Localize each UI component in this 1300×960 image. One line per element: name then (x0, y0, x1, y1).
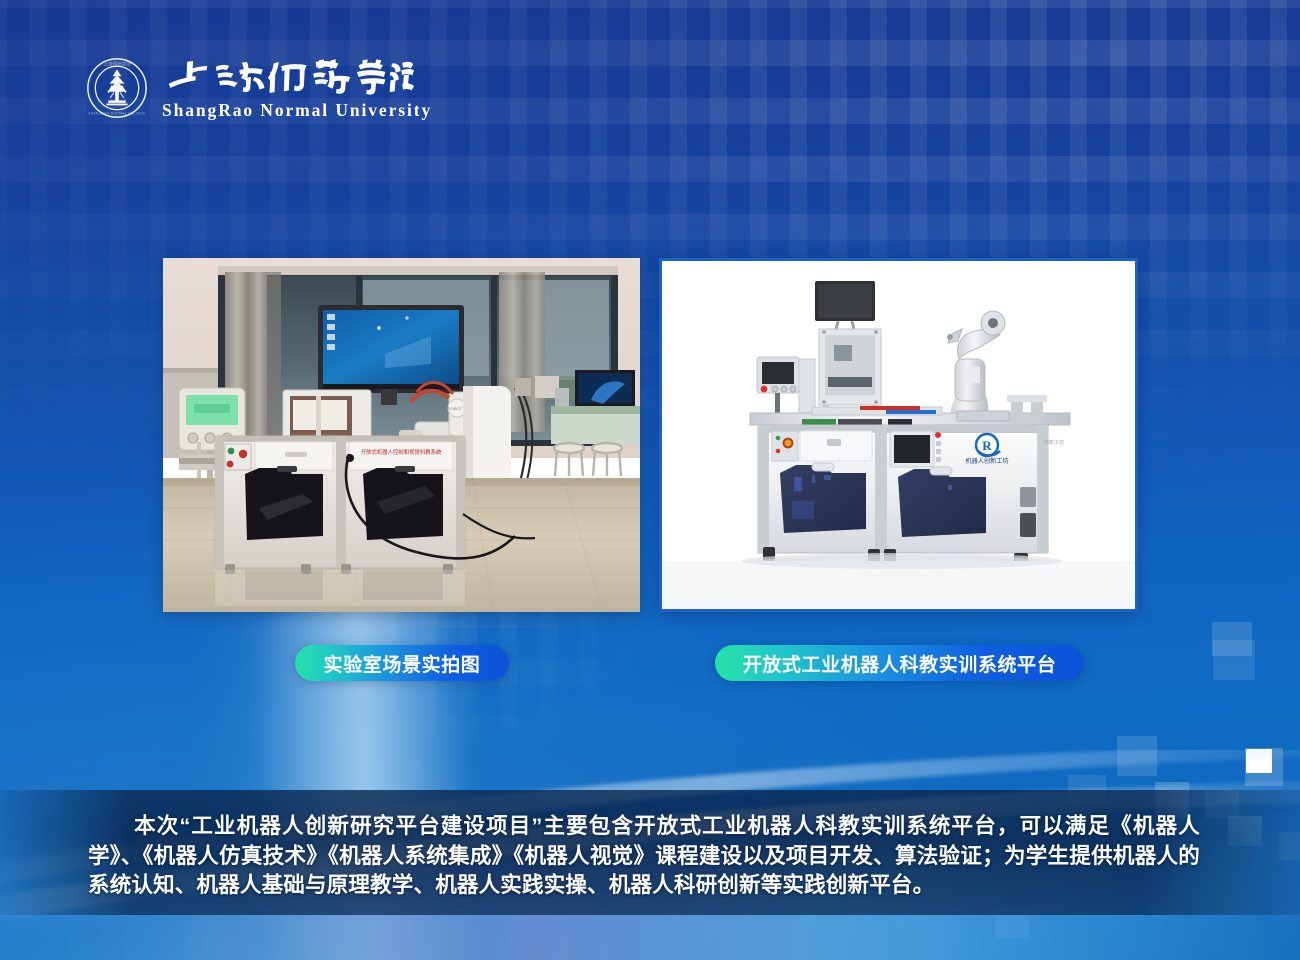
caption-pill-training-platform[interactable]: 开放式工业机器人科教实训系统平台 (715, 645, 1084, 681)
university-seal-icon: 上饶师范学院 SHANGRAO NORMAL COLLEGE (86, 57, 148, 119)
svg-text:上饶师范学院: 上饶师范学院 (103, 60, 131, 67)
photo-training-platform[interactable]: R 机器人创新工坊 创新工坊 (659, 258, 1138, 612)
caption-text-lab-scene: 实验室场景实拍图 (324, 650, 481, 677)
description-paragraph: 本次“工业机器人创新研究平台建设项目”主要包含开放式工业机器人科教实训系统平台，… (88, 812, 1200, 901)
university-name-en: ShangRao Normal University (162, 100, 432, 121)
university-name-cn-calligraphy (162, 55, 414, 99)
svg-text:R: R (982, 438, 992, 453)
caption-text-training-platform: 开放式工业机器人科教实训系统平台 (743, 650, 1057, 677)
decorative-square (1213, 640, 1255, 680)
photo-lab-scene[interactable]: ROBOT (163, 258, 640, 612)
university-logo: 上饶师范学院 SHANGRAO NORMAL COLLEGE (86, 52, 426, 124)
paragraph-text: 本次“工业机器人创新研究平台建设项目”主要包含开放式工业机器人科教实训系统平台，… (88, 814, 1200, 897)
svg-text:机器人创新工坊: 机器人创新工坊 (965, 457, 1008, 465)
svg-text:创新工坊: 创新工坊 (1044, 439, 1064, 446)
machine-label-text: 开放式机器人控制和视觉科教系统 (361, 448, 442, 456)
slide-stage: 上饶师范学院 SHANGRAO NORMAL COLLEGE (0, 0, 1300, 960)
svg-text:SHANGRAO NORMAL COLLEGE: SHANGRAO NORMAL COLLEGE (88, 112, 146, 116)
svg-text:ROBOT: ROBOT (448, 406, 463, 411)
caption-pill-lab-scene[interactable]: 实验室场景实拍图 (295, 645, 509, 681)
